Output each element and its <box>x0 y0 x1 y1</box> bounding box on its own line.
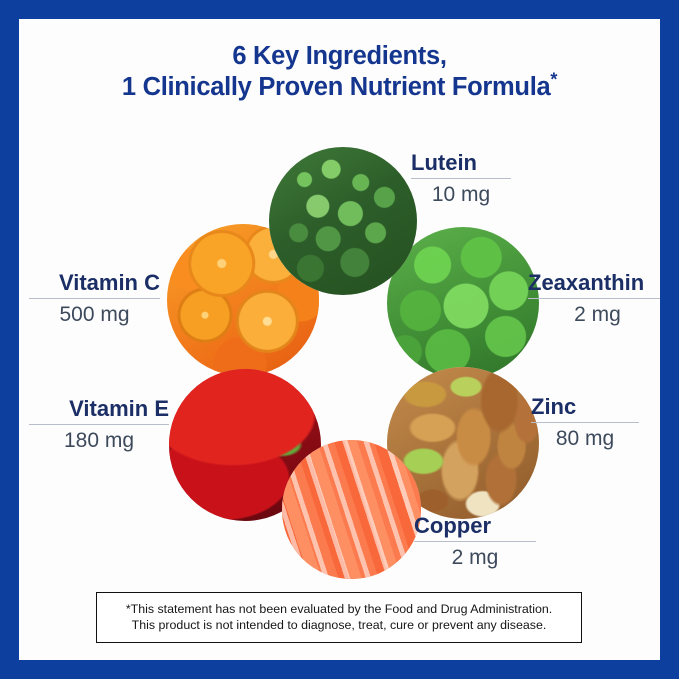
salmon-photo <box>282 440 421 579</box>
ingredient-label-zeaxanthin: Zeaxanthin 2 mg <box>528 270 660 327</box>
salmon-photo-texture <box>282 440 421 579</box>
ingredient-dose-vitamin-e: 180 mg <box>29 428 169 453</box>
ingredient-dose-copper: 2 mg <box>414 545 536 570</box>
ingredient-name-lutein: Lutein <box>411 150 511 176</box>
title-asterisk: * <box>550 70 557 90</box>
ingredient-name-zinc: Zinc <box>531 394 639 420</box>
ingredient-dose-zinc: 80 mg <box>531 426 639 451</box>
kale-photo-texture <box>269 147 417 295</box>
label-divider <box>528 298 660 299</box>
label-divider <box>29 424 169 425</box>
disclaimer-line-2: This product is not intended to diagnose… <box>103 617 575 633</box>
infographic-root: 6 Key Ingredients, 1 Clinically Proven N… <box>0 0 679 679</box>
title-line-2: 1 Clinically Proven Nutrient Formula* <box>19 72 660 103</box>
label-divider <box>531 422 639 423</box>
ingredient-name-vitamin-c: Vitamin C <box>29 270 160 296</box>
white-card: 6 Key Ingredients, 1 Clinically Proven N… <box>19 19 660 660</box>
ingredient-name-copper: Copper <box>414 513 536 539</box>
title-line-1: 6 Key Ingredients, <box>19 41 660 72</box>
ingredient-dose-zeaxanthin: 2 mg <box>528 302 660 327</box>
ingredient-dose-lutein: 10 mg <box>411 182 511 207</box>
ingredient-name-vitamin-e: Vitamin E <box>29 396 169 422</box>
label-divider <box>29 298 160 299</box>
label-divider <box>411 178 511 179</box>
ingredient-label-vitamin-e: Vitamin E 180 mg <box>29 396 169 453</box>
ingredient-label-vitamin-c: Vitamin C 500 mg <box>29 270 160 327</box>
ingredient-dose-vitamin-c: 500 mg <box>29 302 160 327</box>
disclaimer-line-1: *This statement has not been evaluated b… <box>103 601 575 617</box>
page-title: 6 Key Ingredients, 1 Clinically Proven N… <box>19 41 660 103</box>
ingredient-label-zinc: Zinc 80 mg <box>531 394 639 451</box>
title-line-2-text: 1 Clinically Proven Nutrient Formula <box>122 73 550 101</box>
kale-photo <box>269 147 417 295</box>
label-divider <box>414 541 536 542</box>
ingredient-label-copper: Copper 2 mg <box>414 513 536 570</box>
disclaimer-box: *This statement has not been evaluated b… <box>96 592 582 643</box>
ingredient-name-zeaxanthin: Zeaxanthin <box>528 270 660 296</box>
ingredient-label-lutein: Lutein 10 mg <box>411 150 511 207</box>
